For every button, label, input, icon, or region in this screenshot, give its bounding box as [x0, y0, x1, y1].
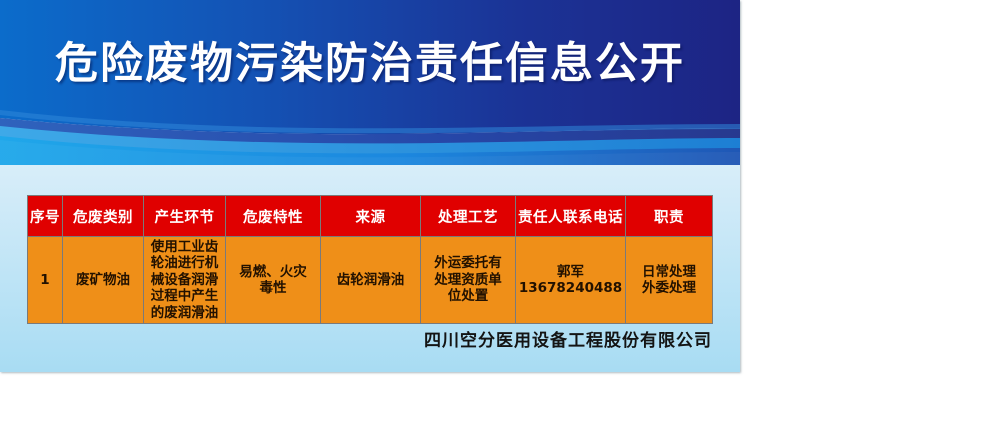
cell-process-lines: 外运委托有 处理资质单 位处置 [423, 255, 513, 304]
cell-process-line-1: 外运委托有 [423, 255, 513, 271]
cell-hazard-line-1: 易燃、火灾 [228, 264, 318, 280]
hazardous-waste-table: 序号 危废类别 产生环节 危废特性 来源 处理工艺 责任人联系电话 职责 1 废… [27, 195, 713, 324]
column-header-duty: 职责 [626, 196, 713, 237]
table-row: 1 废矿物油 使用工业齿 轮油进行机 械设备润滑 过程中产生 的废润滑油 [28, 237, 713, 324]
cell-hazard-lines: 易燃、火灾 毒性 [228, 264, 318, 297]
column-header-source: 来源 [321, 196, 421, 237]
cell-hazard-line-2: 毒性 [228, 280, 318, 296]
cell-duty-line-2: 外委处理 [628, 280, 710, 296]
cell-contact: 郭军 13678240488 [516, 237, 626, 324]
cell-stage-line-4: 过程中产生 [146, 288, 223, 304]
cell-category: 废矿物油 [63, 237, 144, 324]
cell-duty: 日常处理 外委处理 [626, 237, 713, 324]
cell-index: 1 [28, 237, 63, 324]
cell-stage: 使用工业齿 轮油进行机 械设备润滑 过程中产生 的废润滑油 [144, 237, 226, 324]
column-header-process: 处理工艺 [421, 196, 516, 237]
cell-stage-line-2: 轮油进行机 [146, 255, 223, 271]
cell-stage-line-1: 使用工业齿 [146, 239, 223, 255]
banner-wave-graphic [0, 0, 740, 165]
column-header-contact: 责任人联系电话 [516, 196, 626, 237]
cell-duty-lines: 日常处理 外委处理 [628, 264, 710, 297]
company-name: 四川空分医用设备工程股份有限公司 [0, 326, 712, 351]
cell-stage-line-3: 械设备润滑 [146, 272, 223, 288]
cell-hazard: 易燃、火灾 毒性 [226, 237, 321, 324]
cell-source: 齿轮润滑油 [321, 237, 421, 324]
cell-contact-phone: 13678240488 [518, 280, 623, 296]
information-disclosure-poster: 危险废物污染防治责任信息公开 序号 危废类别 产生环节 危废特性 来源 处理工艺… [0, 0, 740, 372]
column-header-hazard: 危废特性 [226, 196, 321, 237]
column-header-category: 危废类别 [63, 196, 144, 237]
cell-duty-line-1: 日常处理 [628, 264, 710, 280]
hazardous-waste-table-wrapper: 序号 危废类别 产生环节 危废特性 来源 处理工艺 责任人联系电话 职责 1 废… [27, 195, 712, 324]
table-header-row: 序号 危废类别 产生环节 危废特性 来源 处理工艺 责任人联系电话 职责 [28, 196, 713, 237]
cell-contact-name: 郭军 [518, 264, 623, 280]
cell-contact-lines: 郭军 13678240488 [518, 264, 623, 297]
cell-stage-lines: 使用工业齿 轮油进行机 械设备润滑 过程中产生 的废润滑油 [146, 239, 223, 321]
cell-process-line-2: 处理资质单 [423, 272, 513, 288]
cell-process: 外运委托有 处理资质单 位处置 [421, 237, 516, 324]
cell-stage-line-5: 的废润滑油 [146, 305, 223, 321]
cell-process-line-3: 位处置 [423, 288, 513, 304]
column-header-index: 序号 [28, 196, 63, 237]
poster-banner: 危险废物污染防治责任信息公开 [0, 0, 740, 165]
column-header-stage: 产生环节 [144, 196, 226, 237]
